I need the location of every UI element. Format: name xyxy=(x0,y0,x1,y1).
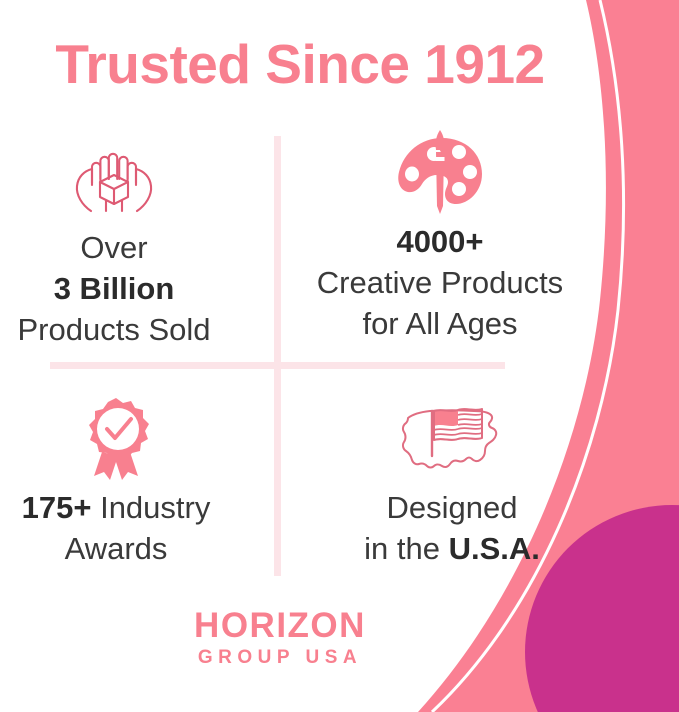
paint-palette-brush-icon xyxy=(286,130,594,216)
feature-line-1: 4000+ xyxy=(396,224,483,259)
feature-line-1-rest: Industry xyxy=(91,490,210,525)
page-title: Trusted Since 1912 xyxy=(0,36,600,94)
palette-well-2 xyxy=(452,145,466,159)
brand-name: HORIZON xyxy=(0,608,560,643)
palette-well-4 xyxy=(452,182,466,196)
hands-holding-box-icon xyxy=(0,136,228,222)
feature-line-3: for All Ages xyxy=(362,306,517,341)
feature-line-3: Products Sold xyxy=(18,312,211,347)
brand-logo: HORIZON GROUP USA xyxy=(0,608,560,667)
feature-line-2: Awards xyxy=(65,531,168,566)
feature-line-2: 3 Billion xyxy=(54,271,175,306)
feature-designed-usa: Designed in the U.S.A. xyxy=(322,396,582,570)
feature-line-1-bold: 175+ xyxy=(22,490,92,525)
feature-line-1: Designed xyxy=(387,490,518,525)
feature-products-sold-text: Over 3 Billion Products Sold xyxy=(0,228,228,351)
usa-map-flag-icon xyxy=(322,396,582,482)
palette-thumb-hole xyxy=(405,167,419,182)
wave-white-line xyxy=(432,0,624,712)
palette-well-3 xyxy=(463,165,477,179)
award-ribbon-check-icon xyxy=(0,396,232,482)
feature-line-2: Creative Products xyxy=(317,265,563,300)
feature-industry-awards-text: 175+ Industry Awards xyxy=(0,488,232,570)
flag-canton xyxy=(434,410,458,426)
feature-creative-products-text: 4000+ Creative Products for All Ages xyxy=(286,222,594,345)
promo-graphic: Trusted Since 1912 xyxy=(0,0,679,712)
pink-wave-shape xyxy=(418,0,679,712)
brush-handle xyxy=(436,152,444,214)
feature-line-2-prefix: in the xyxy=(364,531,448,566)
divider-vertical xyxy=(274,136,281,576)
feature-industry-awards: 175+ Industry Awards xyxy=(0,396,232,570)
feature-products-sold: Over 3 Billion Products Sold xyxy=(0,136,228,351)
rosette-inner xyxy=(97,408,139,450)
feature-designed-usa-text: Designed in the U.S.A. xyxy=(322,488,582,570)
feature-line-2-bold: U.S.A. xyxy=(449,531,540,566)
feature-line-1: Over xyxy=(80,230,147,265)
brush-tip xyxy=(436,130,445,150)
brush-ferrule xyxy=(436,157,445,161)
brand-tagline: GROUP USA xyxy=(0,648,560,667)
feature-creative-products: 4000+ Creative Products for All Ages xyxy=(286,130,594,345)
